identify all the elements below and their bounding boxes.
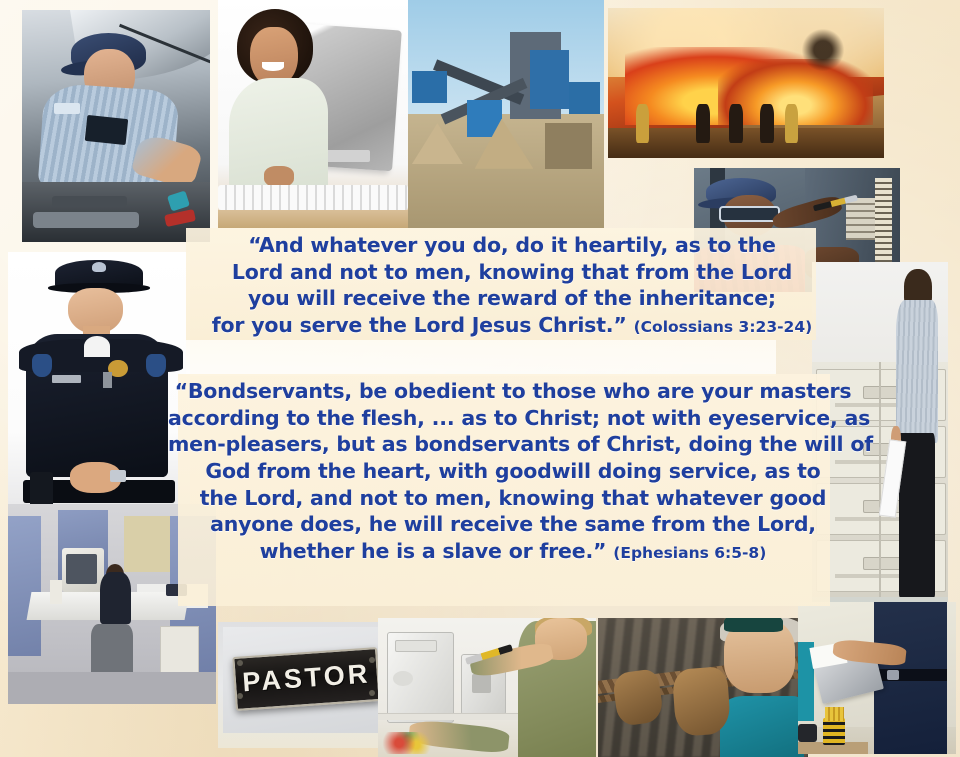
photo-mechanic: Auto mechanic in blue cap working under …	[22, 10, 210, 242]
verse-line-text: for you serve the Lord Jesus Christ.”	[212, 313, 627, 337]
verse-line-text: whether he is a slave or free.”	[260, 539, 607, 563]
scripture-ephesians: “Bondservants, be obedient to those who …	[168, 378, 858, 564]
poster-canvas: Auto mechanic in blue cap working under …	[0, 0, 960, 757]
pastor-sign-plate: PASTOR	[232, 647, 380, 711]
pastor-sign-label: PASTOR	[241, 659, 371, 699]
verse-line: “Bondservants, be obedient to those who …	[168, 378, 858, 405]
verse-line: you will receive the reward of the inher…	[176, 285, 848, 312]
verse-1-reference-backdrop	[186, 340, 776, 376]
photo-police-officer: Police officer in dark uniform with badg…	[8, 252, 190, 508]
photo-office-woman: Smiling woman at a desktop computer and …	[218, 0, 408, 228]
photo-rebar-worker: Construction worker in teal shirt carryi…	[598, 618, 808, 757]
photo-pastor-sign: PASTOR Weathered black door sign reading…	[218, 622, 394, 748]
scripture-reference: (Ephesians 6:5-8)	[613, 544, 766, 562]
verse-line: Lord and not to men, knowing that from t…	[176, 259, 848, 286]
verse-line: the Lord, and not to men, knowing that w…	[168, 485, 858, 512]
scripture-colossians: “And whatever you do, do it heartily, as…	[176, 232, 848, 339]
verse-last-line: for you serve the Lord Jesus Christ.” (C…	[176, 312, 848, 339]
verse-line: according to the flesh, ... as to Christ…	[168, 405, 858, 432]
photo-quarry: Gravel quarry plant with blue conveyors …	[408, 0, 604, 228]
verse-line: anyone does, he will receive the same fr…	[168, 511, 858, 538]
photo-laptop-handoff: Worker in navy uniform handing over a la…	[798, 602, 956, 754]
photo-pc-technician: Technician with a screwdriver servicing …	[378, 618, 596, 757]
scripture-reference: (Colossians 3:23-24)	[634, 318, 813, 336]
verse-last-line: whether he is a slave or free.” (Ephesia…	[168, 538, 858, 565]
verse-line: “And whatever you do, do it heartily, as…	[176, 232, 848, 259]
verse-line: men-pleasers, but as bondservants of Chr…	[168, 431, 858, 458]
photo-wildfire: Firefighters on a hillside beside a wall…	[608, 8, 884, 158]
verse-line: God from the heart, with goodwill doing …	[168, 458, 858, 485]
